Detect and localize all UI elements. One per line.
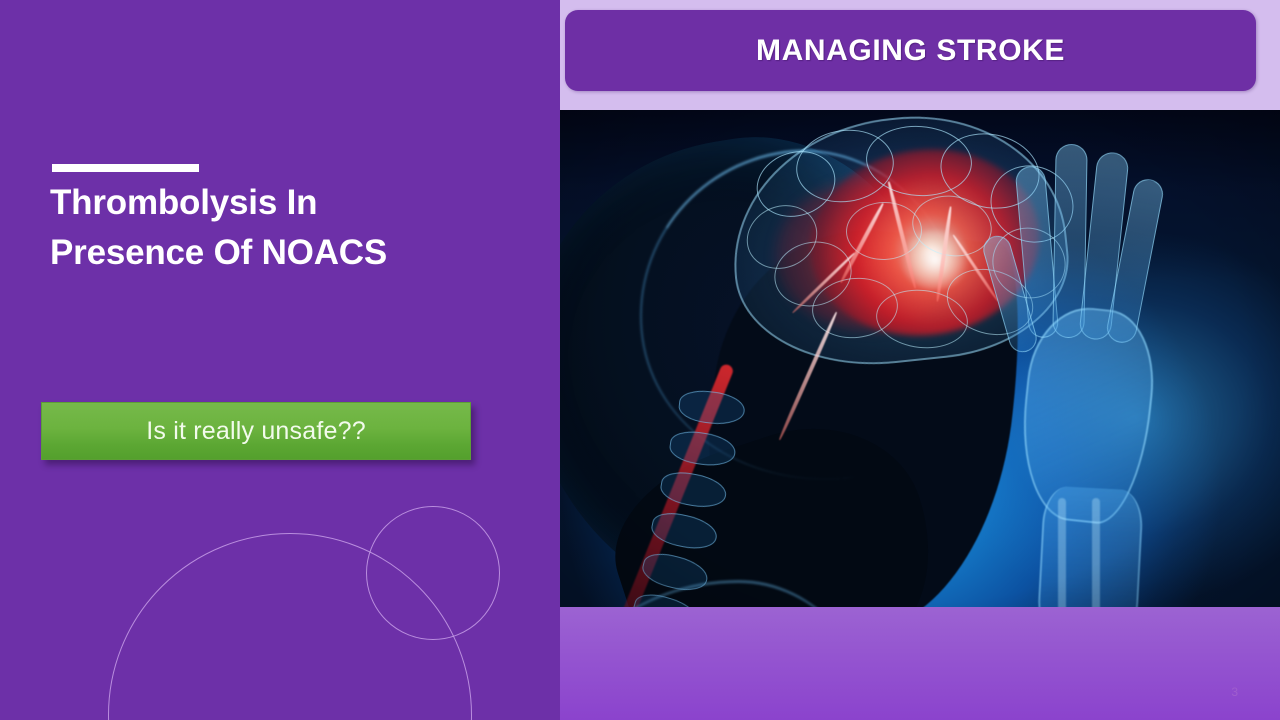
slide-number: 3 bbox=[1231, 685, 1238, 699]
decorative-circle-small-icon bbox=[366, 506, 500, 640]
cta-button-label: Is it really unsafe?? bbox=[146, 417, 366, 446]
header-banner: MANAGING STROKE bbox=[565, 10, 1256, 91]
brain-stroke-illustration bbox=[560, 110, 1280, 607]
decorative-circle-large-icon bbox=[108, 533, 472, 720]
header-strip: MANAGING STROKE bbox=[560, 0, 1280, 110]
is-it-really-unsafe-button[interactable]: Is it really unsafe?? bbox=[41, 402, 471, 460]
presentation-slide: Thrombolysis In Presence Of NOACS Is it … bbox=[0, 0, 1280, 720]
right-content-panel: MANAGING STROKE bbox=[560, 0, 1280, 720]
image-vignette bbox=[560, 110, 1280, 607]
header-title: MANAGING STROKE bbox=[756, 34, 1065, 68]
bottom-band: 3 bbox=[560, 607, 1280, 720]
left-title-panel: Thrombolysis In Presence Of NOACS Is it … bbox=[0, 0, 560, 720]
page-title: Thrombolysis In Presence Of NOACS bbox=[50, 178, 520, 277]
title-rule-divider bbox=[52, 164, 199, 172]
